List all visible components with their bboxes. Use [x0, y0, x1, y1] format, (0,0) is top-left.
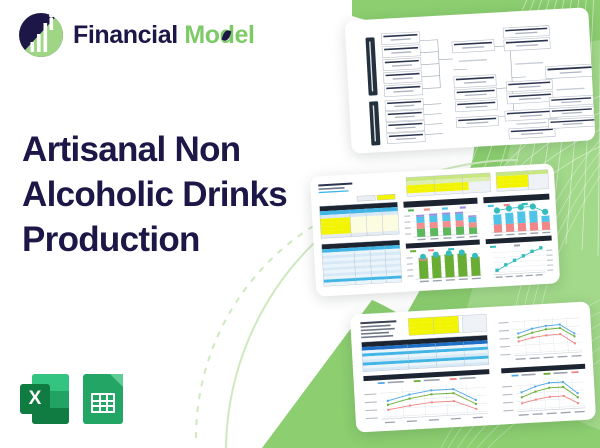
financials-table [322, 240, 402, 286]
ratio-tree-svg [344, 7, 595, 153]
revenue-trend-lines-1 [498, 309, 585, 361]
chart-header-left [363, 369, 489, 381]
projections-charts-card[interactable] [350, 301, 596, 432]
pie-bar-chart-circle-logo [18, 12, 64, 58]
revenue-trend-lines-2 [364, 383, 488, 424]
dashboard-title-block [318, 180, 395, 203]
stacked-revenue-bars [403, 198, 479, 241]
google-sheets-file-icon[interactable] [83, 371, 132, 424]
revenue-trend-lines-3 [502, 378, 586, 417]
financial-dashboard-card[interactable] [310, 163, 560, 296]
brand-lockup: Financial Model [18, 12, 255, 58]
page-title: Artisanal Non Alcoholic Drinks Productio… [22, 128, 294, 262]
excel-file-icon[interactable]: X [20, 371, 69, 424]
sheets-doc-body [83, 374, 123, 424]
sheets-corner-fold [110, 374, 123, 387]
projections-svg [350, 301, 596, 432]
dashboard-svg [310, 163, 560, 296]
dupont-ratio-tree-card[interactable] [344, 7, 595, 153]
sheets-table-glyph [91, 393, 115, 413]
excel-x-letter: X [20, 384, 50, 414]
profitability-bars-with-line [483, 194, 551, 237]
dashboard-content [310, 163, 560, 296]
financial-statement-table [360, 314, 489, 371]
brand-word-model: Model [184, 21, 254, 49]
cash-flow-green-bars [406, 240, 482, 283]
assumptions-table-top [406, 173, 491, 197]
brand-o-with-leaf: o [205, 23, 220, 48]
ratio-tree-diagram [344, 7, 595, 153]
brand-word-financial: Financial [73, 21, 178, 49]
projections-content [350, 301, 596, 432]
file-format-badges: X [20, 371, 132, 424]
poster-canvas: Financial Model Artisanal Non Alcoholic … [0, 0, 600, 448]
ratio-node-group-level2 [452, 40, 499, 128]
cost-inputs-table [320, 202, 400, 238]
assumptions-table-right [496, 170, 549, 192]
cumulative-cash-scatter-line [486, 236, 554, 279]
brand-wordmark: Financial Model [73, 23, 255, 48]
ratio-node-group-level1 [381, 32, 425, 144]
